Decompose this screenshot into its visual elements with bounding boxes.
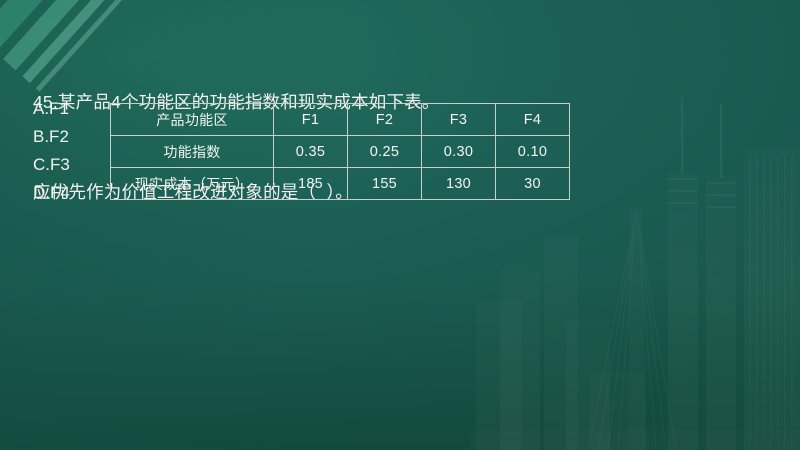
data-table-wrapper: 产品功能区 F1 F2 F3 F4 功能指数 0.35 0.25 0.30 0.…: [110, 103, 544, 200]
cell-r1-c1: 0.25: [348, 136, 422, 168]
table-row-header: 产品功能区 F1 F2 F3 F4: [111, 104, 570, 136]
row-header-label-0: 产品功能区: [111, 104, 274, 136]
option-d[interactable]: D.F4: [33, 179, 103, 207]
table-row-actual-cost: 现实成本（万元） 185 155 130 30: [111, 168, 570, 200]
slide-content: 45.某产品4个功能区的功能指数和现实成本如下表。 应优先作为价值工程改进对象的…: [0, 0, 800, 450]
cell-r2-c0: 185: [274, 168, 348, 200]
option-b[interactable]: B.F2: [33, 123, 103, 151]
cell-r2-c3: 30: [496, 168, 570, 200]
row-header-label-2: 现实成本（万元）: [111, 168, 274, 200]
cell-r0-c1: F2: [348, 104, 422, 136]
cell-r0-c0: F1: [274, 104, 348, 136]
cell-r1-c2: 0.30: [422, 136, 496, 168]
table-row-function-index: 功能指数 0.35 0.25 0.30 0.10: [111, 136, 570, 168]
option-c[interactable]: C.F3: [33, 151, 103, 179]
answer-options: A.F1 B.F2 C.F3 D.F4: [33, 95, 103, 207]
cell-r2-c1: 155: [348, 168, 422, 200]
cell-r1-c3: 0.10: [496, 136, 570, 168]
option-a[interactable]: A.F1: [33, 95, 103, 123]
cell-r0-c2: F3: [422, 104, 496, 136]
cell-r0-c3: F4: [496, 104, 570, 136]
cell-r2-c2: 130: [422, 168, 496, 200]
row-header-label-1: 功能指数: [111, 136, 274, 168]
cell-r1-c0: 0.35: [274, 136, 348, 168]
slide-canvas: 45.某产品4个功能区的功能指数和现实成本如下表。 应优先作为价值工程改进对象的…: [0, 0, 800, 450]
function-cost-table: 产品功能区 F1 F2 F3 F4 功能指数 0.35 0.25 0.30 0.…: [110, 103, 570, 200]
